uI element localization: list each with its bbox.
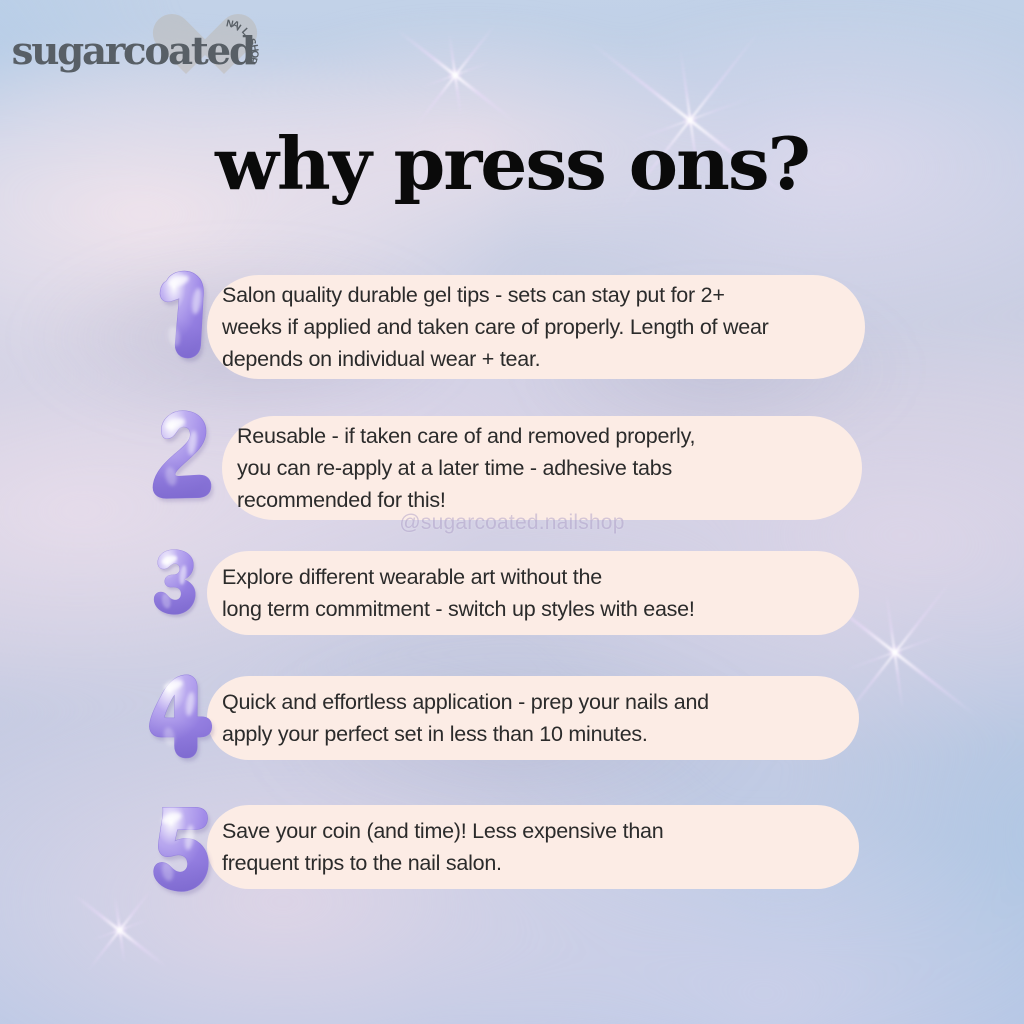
poster-canvas: sugarcoated NAIL SHOP why press ons? Sal…	[0, 0, 1024, 1024]
benefit-card: Salon quality durable gel tips - sets ca…	[207, 275, 865, 379]
balloon-numeral-2	[142, 406, 250, 532]
benefit-card: Save your coin (and time)! Less expensiv…	[207, 805, 859, 889]
benefit-text: Reusable - if taken care of and removed …	[222, 420, 695, 517]
benefit-text: Salon quality durable gel tips - sets ca…	[207, 279, 769, 376]
benefits-list: Salon quality durable gel tips - sets ca…	[0, 0, 1024, 1024]
benefit-text: Quick and effortless application - prep …	[207, 686, 709, 751]
benefit-text: Explore different wearable art without t…	[207, 561, 695, 626]
balloon-numeral-1	[148, 262, 248, 392]
balloon-numeral-3	[138, 546, 248, 656]
balloon-numeral-4	[138, 668, 254, 794]
balloon-numeral-5	[138, 800, 248, 928]
benefit-card: Quick and effortless application - prep …	[207, 676, 859, 760]
benefit-text: Save your coin (and time)! Less expensiv…	[207, 815, 663, 880]
benefit-card: Reusable - if taken care of and removed …	[222, 416, 862, 520]
benefit-card: Explore different wearable art without t…	[207, 551, 859, 635]
